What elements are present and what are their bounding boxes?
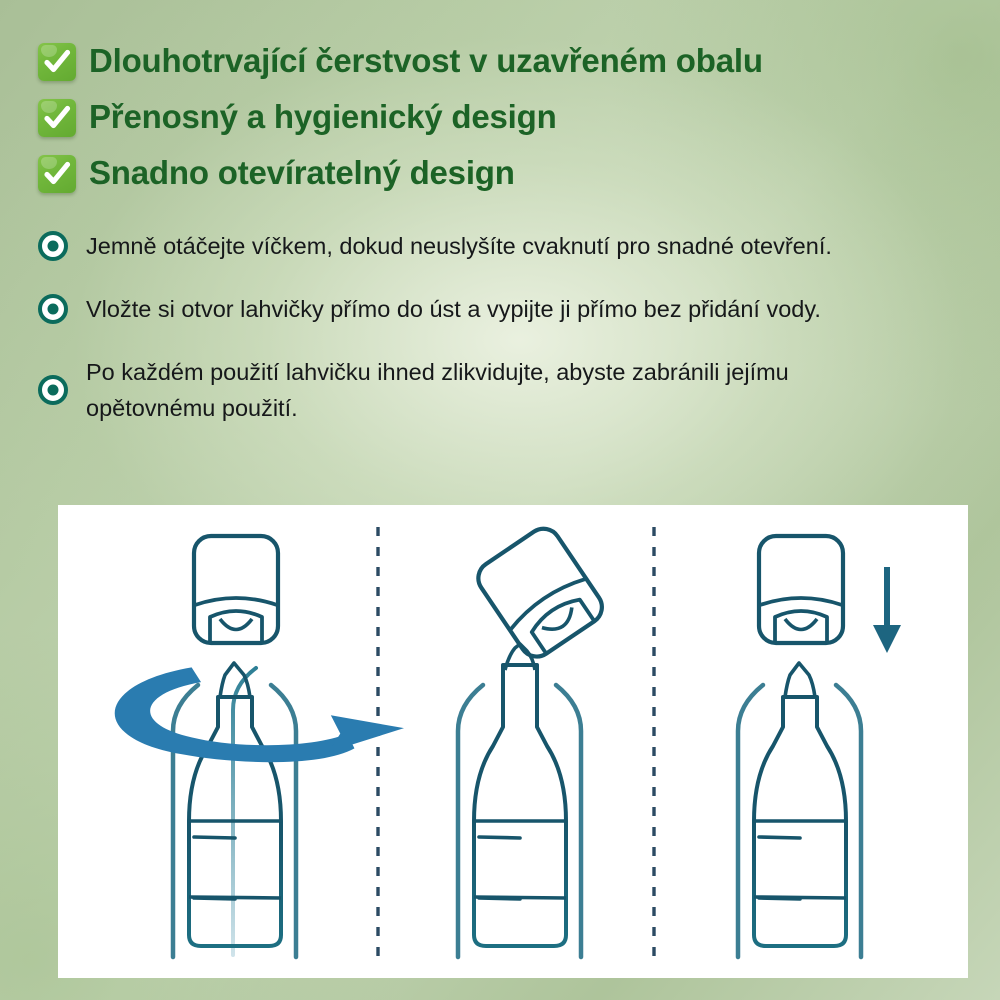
usage-instruction-list: Jemně otáčejte víčkem, dokud neuslyšíte …: [38, 228, 988, 426]
step-press-down: [738, 536, 901, 957]
feature-headline-item: Dlouhotrvající čerstvost v uzavřeném oba…: [38, 38, 978, 88]
tilted-cap-icon: [472, 522, 609, 663]
feature-headline-list: Dlouhotrvající čerstvost v uzavřeném oba…: [38, 38, 978, 206]
feature-headline-item: Přenosný a hygienický design: [38, 94, 978, 144]
feature-headline-label: Dlouhotrvající čerstvost v uzavřeném oba…: [89, 38, 763, 84]
feature-headline-label: Přenosný a hygienický design: [89, 94, 557, 140]
radio-bullet-icon: [38, 231, 68, 261]
bottle-cap: [759, 536, 843, 643]
radio-bullet-icon: [38, 375, 68, 405]
usage-instruction-line-1: Po každém použití lahvičku ihned zlikvid…: [86, 359, 789, 385]
bottle-outline: [473, 665, 567, 946]
feature-headline-item: Snadno otevíratelný design: [38, 150, 978, 200]
usage-instruction-item: Vložte si otvor lahvičky přímo do úst a …: [38, 291, 988, 327]
usage-instruction-item: Po každém použití lahvičku ihned zlikvid…: [38, 354, 988, 426]
check-square-icon: [38, 99, 76, 137]
usage-instruction-label: Po každém použití lahvičku ihned zlikvid…: [86, 354, 966, 426]
promo-infographic-page: Dlouhotrvající čerstvost v uzavřeném oba…: [0, 0, 1000, 1000]
usage-instruction-label: Vložte si otvor lahvičky přímo do úst a …: [86, 291, 821, 327]
rotate-arrow-icon: [115, 667, 404, 762]
down-arrow-icon: [873, 567, 901, 653]
feature-headline-label: Snadno otevíratelný design: [89, 150, 515, 196]
step-remove-cap: [458, 522, 608, 957]
check-square-icon: [38, 43, 76, 81]
radio-bullet-icon: [38, 294, 68, 324]
bottle-outline: [753, 697, 847, 946]
usage-instruction-line-2: opětovnému použití.: [86, 390, 966, 426]
check-square-icon: [38, 155, 76, 193]
usage-instruction-item: Jemně otáčejte víčkem, dokud neuslyšíte …: [38, 228, 988, 264]
bottle-cap: [194, 536, 278, 643]
usage-instruction-label: Jemně otáčejte víčkem, dokud neuslyšíte …: [86, 228, 832, 264]
instruction-illustration-panel: [58, 505, 968, 978]
step-twist-cap: [115, 536, 404, 957]
